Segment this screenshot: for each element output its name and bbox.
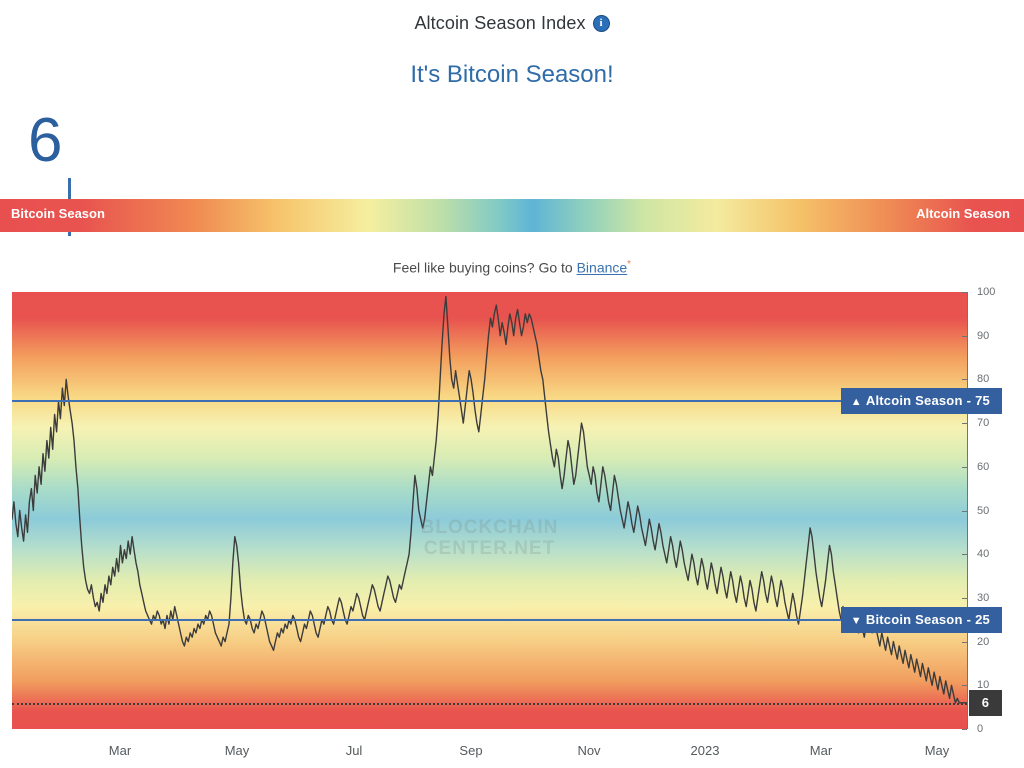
- y-tick-60: 60: [968, 461, 989, 473]
- y-tick-label: 50: [977, 505, 989, 517]
- threshold-value: 25: [975, 612, 990, 627]
- season-subtitle: It's Bitcoin Season!: [0, 61, 1024, 89]
- page-title: Altcoin Season Index: [414, 13, 585, 34]
- threshold-arrow-icon: ▼: [851, 615, 862, 627]
- x-tick-2023: 2023: [691, 743, 720, 758]
- x-tick-Mar: Mar: [109, 743, 131, 758]
- threshold-badge-75: ▲Altcoin Season-75: [841, 388, 1002, 414]
- y-tick-label: 70: [977, 417, 989, 429]
- x-tick-May: May: [225, 743, 250, 758]
- promo-asterisk: *: [627, 259, 631, 270]
- y-tick-label: 80: [977, 373, 989, 385]
- y-tick-50: 50: [968, 505, 989, 517]
- altcoin-season-label: Altcoin Season: [916, 206, 1010, 221]
- y-tick-100: 100: [968, 286, 995, 298]
- y-tick-40: 40: [968, 548, 989, 560]
- threshold-line-25: [12, 619, 967, 621]
- info-icon[interactable]: i: [593, 15, 610, 32]
- index-value: 6: [28, 110, 62, 172]
- y-tick-70: 70: [968, 417, 989, 429]
- page-title-row: Altcoin Season Index i: [0, 13, 1024, 34]
- y-tick-label: 20: [977, 636, 989, 648]
- y-tick-label: 100: [977, 286, 995, 298]
- x-tick-Mar: Mar: [810, 743, 832, 758]
- x-tick-Jul: Jul: [346, 743, 363, 758]
- threshold-label: Altcoin Season: [866, 393, 963, 408]
- y-tick-80: 80: [968, 373, 989, 385]
- binance-link[interactable]: Binance: [577, 260, 628, 276]
- promo-text: Feel like buying coins? Go to: [393, 260, 577, 276]
- threshold-line-75: [12, 400, 967, 402]
- y-tick-20: 20: [968, 636, 989, 648]
- y-tick-30: 30: [968, 592, 989, 604]
- season-gradient-bar: Bitcoin Season Altcoin Season: [0, 199, 1024, 232]
- altcoin-season-index-page: Altcoin Season Index i It's Bitcoin Seas…: [0, 0, 1024, 768]
- y-tick-label: 40: [977, 548, 989, 560]
- x-axis-ticks: MarMayJulSepNov2023MarMay: [0, 738, 1024, 768]
- y-tick-label: 30: [977, 592, 989, 604]
- y-tick-label: 60: [977, 461, 989, 473]
- y-tick-label: 90: [977, 330, 989, 342]
- chart-plot-area[interactable]: BLOCKCHAIN CENTER.NET: [12, 292, 967, 729]
- threshold-badge-25: ▼Bitcoin Season-25: [841, 607, 1002, 633]
- x-tick-Nov: Nov: [577, 743, 600, 758]
- index-line-series: [12, 292, 967, 729]
- threshold-arrow-icon: ▲: [851, 396, 862, 408]
- y-tick-0: 0: [968, 723, 983, 735]
- y-tick-90: 90: [968, 330, 989, 342]
- bitcoin-season-label: Bitcoin Season: [11, 206, 105, 221]
- threshold-label: Bitcoin Season: [866, 612, 963, 627]
- x-tick-May: May: [925, 743, 950, 758]
- x-tick-Sep: Sep: [459, 743, 482, 758]
- current-value-badge: 6: [969, 690, 1002, 716]
- y-tick-label: 0: [977, 723, 983, 735]
- promo-line: Feel like buying coins? Go to Binance*: [0, 259, 1024, 276]
- current-value-line: [12, 703, 967, 705]
- threshold-value: 75: [975, 393, 990, 408]
- chart-container: BLOCKCHAIN CENTER.NET 010203040506070809…: [0, 292, 1024, 737]
